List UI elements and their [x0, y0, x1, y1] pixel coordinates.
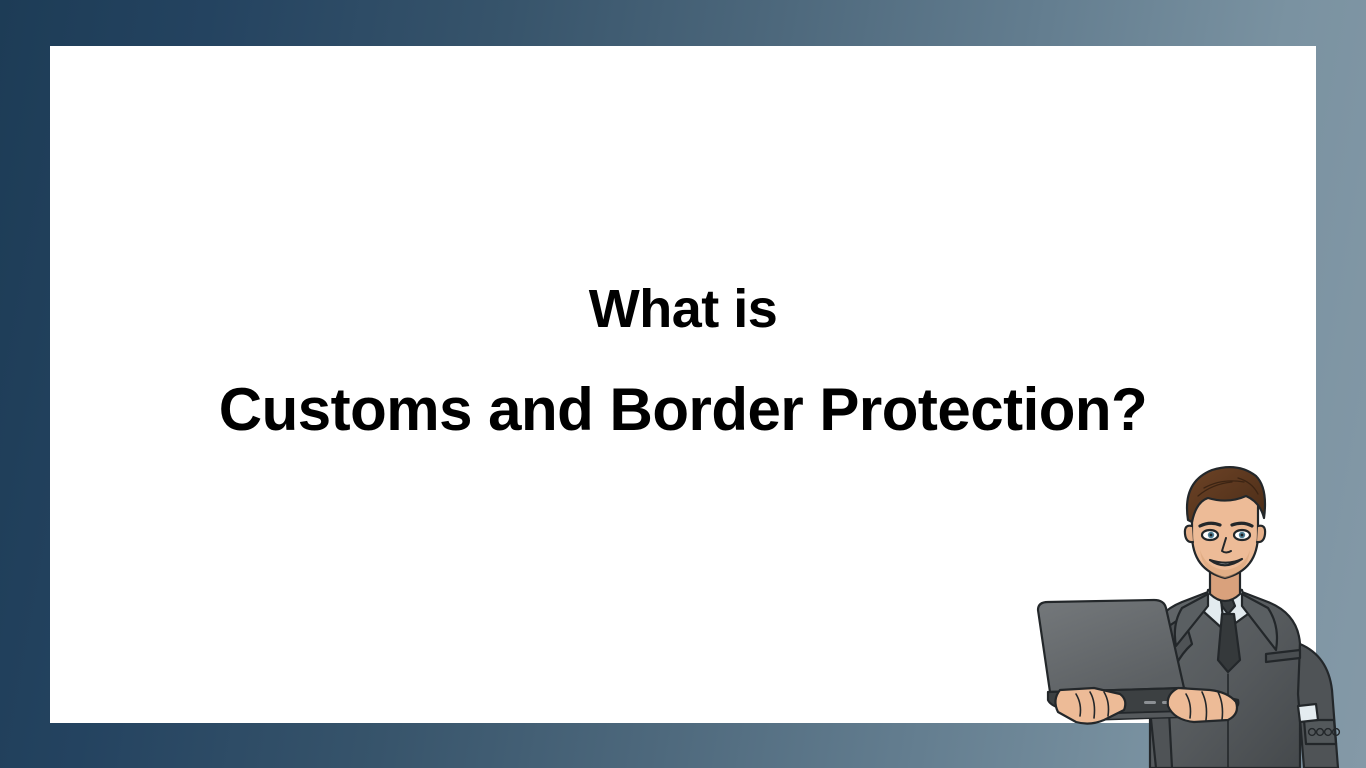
- suit-cuff-right: [1304, 720, 1336, 744]
- title-line-1: What is: [50, 282, 1316, 336]
- title-line-2: Customs and Border Protection?: [50, 380, 1316, 440]
- slide-canvas: What is Customs and Border Protection?: [0, 0, 1366, 768]
- cuff-buttons: [1309, 729, 1340, 736]
- title-block: What is Customs and Border Protection?: [50, 46, 1316, 440]
- slide-content-card: What is Customs and Border Protection?: [50, 46, 1316, 723]
